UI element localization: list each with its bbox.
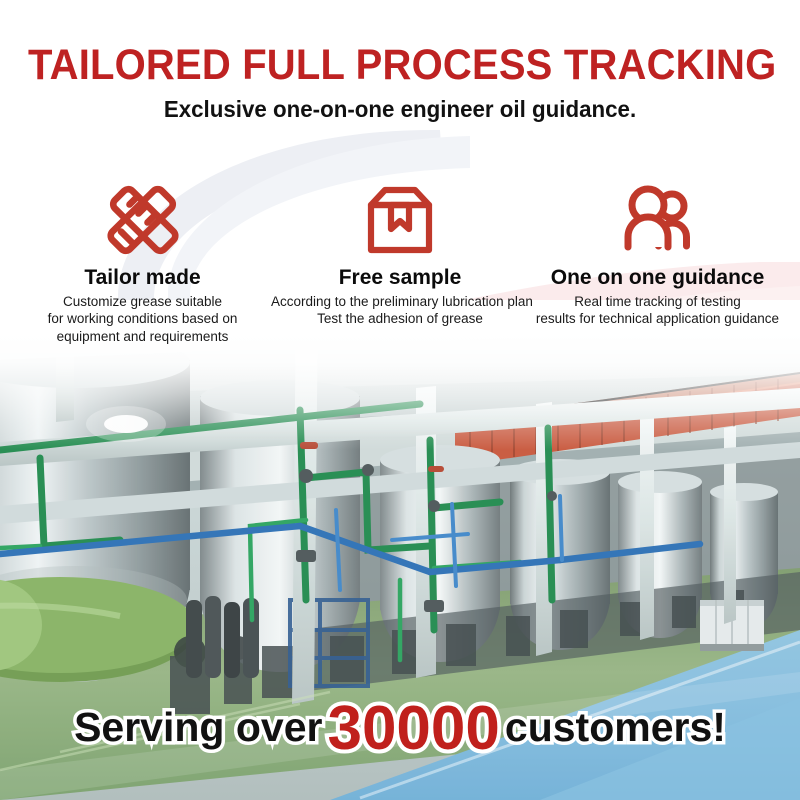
feature-item-free-sample: Free sample According to the preliminary… <box>271 182 529 328</box>
feature-desc-line: Customize grease suitable <box>14 293 271 311</box>
page-subtitle: Exclusive one-on-one engineer oil guidan… <box>12 88 788 122</box>
feature-description: Customize grease suitable for working co… <box>14 293 271 346</box>
promo-banner: TAILORED FULL PROCESS TRACKING Exclusive… <box>0 0 800 800</box>
package-box-icon <box>271 182 529 258</box>
bottom-banner-prefix: Serving over <box>74 707 322 748</box>
ruler-pencil-icon <box>14 182 271 258</box>
feature-desc-line: results for technical application guidan… <box>529 310 786 328</box>
bottom-banner: Serving over 30000 customers! <box>0 692 800 762</box>
bottom-banner-suffix: customers! <box>505 707 726 748</box>
feature-description: According to the preliminary lubrication… <box>271 293 529 328</box>
feature-description: Real time tracking of testing results fo… <box>529 293 786 328</box>
feature-title: Free sample <box>271 267 529 290</box>
feature-desc-line: for working conditions based on <box>14 310 271 328</box>
two-people-icon-svg <box>620 185 696 255</box>
feature-title: Tailor made <box>14 267 271 290</box>
two-people-icon <box>529 182 786 258</box>
bottom-banner-number: 30000 <box>327 698 499 760</box>
box-ribbon <box>391 205 409 229</box>
feature-desc-line: Test the adhesion of grease <box>271 310 529 328</box>
person-front <box>628 189 668 247</box>
page-title: TAILORED FULL PROCESS TRACKING <box>28 0 772 88</box>
header: TAILORED FULL PROCESS TRACKING Exclusive… <box>0 0 800 122</box>
feature-title: One on one guidance <box>529 267 786 290</box>
box-body <box>371 205 429 250</box>
feature-desc-line: equipment and requirements <box>14 328 271 346</box>
feature-item-tailor-made: Tailor made Customize grease suitable fo… <box>14 182 271 345</box>
feature-item-one-on-one: One on one guidance Real time tracking o… <box>529 182 786 328</box>
feature-desc-line: Real time tracking of testing <box>529 293 786 311</box>
feature-desc-line: According to the preliminary lubrication… <box>271 293 529 311</box>
package-box-icon-svg <box>363 184 437 256</box>
ruler-pencil-icon-svg <box>104 183 182 257</box>
feature-list: Tailor made Customize grease suitable fo… <box>0 182 800 362</box>
